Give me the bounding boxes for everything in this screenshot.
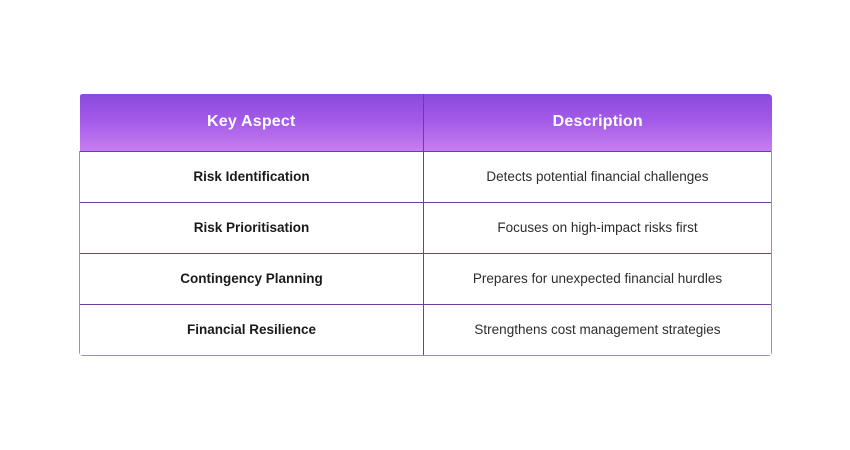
table-row: Contingency Planning Prepares for unexpe… <box>80 253 772 304</box>
cell-description: Focuses on high-impact risks first <box>424 202 772 253</box>
table-header-row: Key Aspect Description <box>80 94 772 151</box>
table-body: Risk Identification Detects potential fi… <box>80 151 772 355</box>
column-header-description: Description <box>424 94 772 151</box>
table-row: Risk Identification Detects potential fi… <box>80 151 772 202</box>
table-row: Financial Resilience Strengthens cost ma… <box>80 304 772 355</box>
cell-key-aspect: Risk Identification <box>80 151 424 202</box>
cell-description: Strengthens cost management strategies <box>424 304 772 355</box>
table-header: Key Aspect Description <box>80 94 772 151</box>
cell-key-aspect: Risk Prioritisation <box>80 202 424 253</box>
cell-description: Detects potential financial challenges <box>424 151 772 202</box>
cell-key-aspect: Contingency Planning <box>80 253 424 304</box>
cell-key-aspect: Financial Resilience <box>80 304 424 355</box>
key-aspect-description-table: Key Aspect Description Risk Identificati… <box>79 94 772 356</box>
aspect-table-container: Key Aspect Description Risk Identificati… <box>79 94 771 355</box>
table-row: Risk Prioritisation Focuses on high-impa… <box>80 202 772 253</box>
column-header-key-aspect: Key Aspect <box>80 94 424 151</box>
cell-description: Prepares for unexpected financial hurdle… <box>424 253 772 304</box>
